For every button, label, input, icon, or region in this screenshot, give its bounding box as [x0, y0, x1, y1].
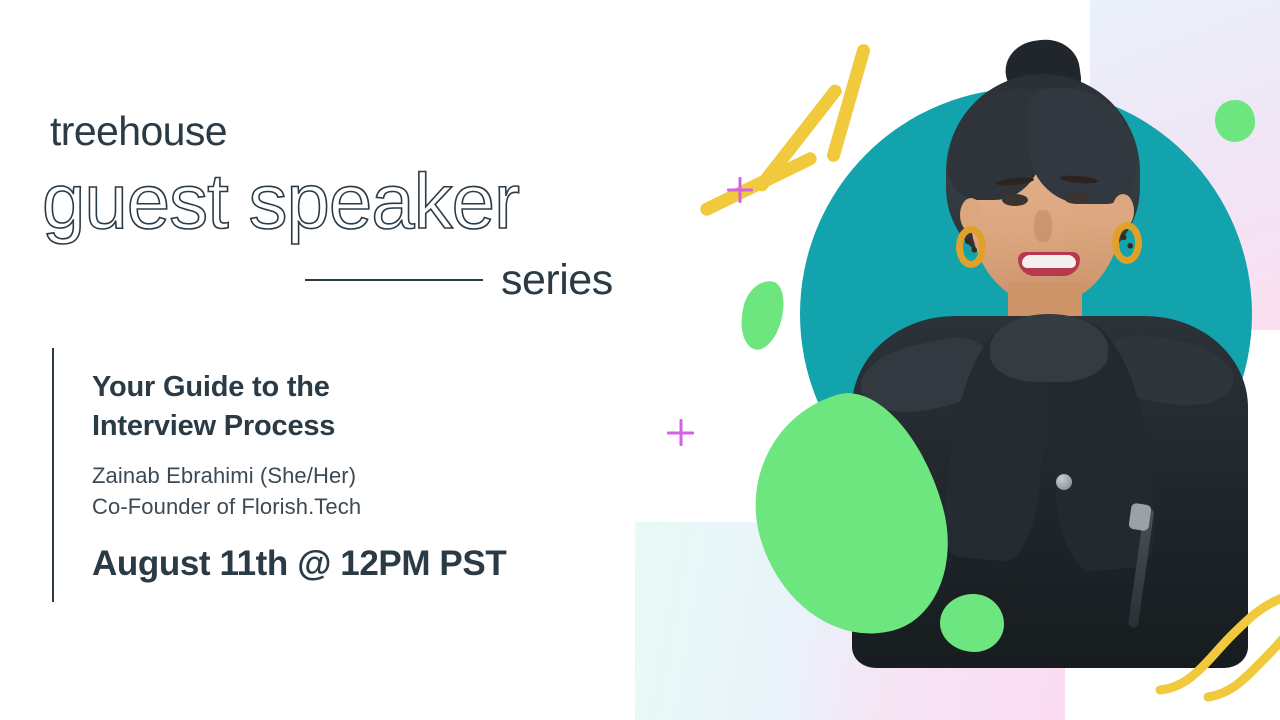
headline-outline: guest speaker [42, 162, 519, 242]
green-blob-dot [940, 594, 1004, 652]
jacket-stud [1056, 474, 1072, 490]
promo-slide: treehouse guest speaker series Your Guid… [0, 0, 1280, 720]
series-divider-rule [305, 279, 483, 281]
talk-title-line-1: Your Guide to the [92, 368, 612, 407]
yellow-squiggle-icon [1150, 575, 1280, 705]
series-row: series [305, 250, 625, 310]
detail-vertical-rule [52, 348, 54, 602]
jacket-zipper-pull [1128, 503, 1151, 532]
brand-wordmark: treehouse [50, 108, 227, 155]
jacket-collar [990, 314, 1108, 382]
smiling-mouth [1018, 252, 1080, 276]
speaker-name: Zainab Ebrahimi (She/Her) [92, 460, 612, 491]
talk-title: Your Guide to the Interview Process [92, 368, 612, 446]
hair-front-right [1028, 88, 1136, 204]
leopard-hoop-earring-right [1112, 222, 1142, 264]
eye-right [1064, 192, 1090, 204]
plus-icon [667, 419, 694, 446]
event-datetime: August 11th @ 12PM PST [92, 544, 612, 584]
talk-title-line-2: Interview Process [92, 407, 612, 446]
plus-icon [727, 177, 753, 203]
series-word: series [501, 256, 613, 305]
event-details: Your Guide to the Interview Process Zain… [92, 368, 612, 584]
nose [1034, 210, 1052, 242]
green-blob-small [734, 276, 790, 354]
speaker-role: Co-Founder of Florish.Tech [92, 491, 612, 522]
eye-left [1002, 194, 1028, 206]
yellow-spark-icon [698, 150, 819, 218]
leopard-hoop-earring-left [956, 226, 986, 268]
teeth [1022, 255, 1076, 268]
